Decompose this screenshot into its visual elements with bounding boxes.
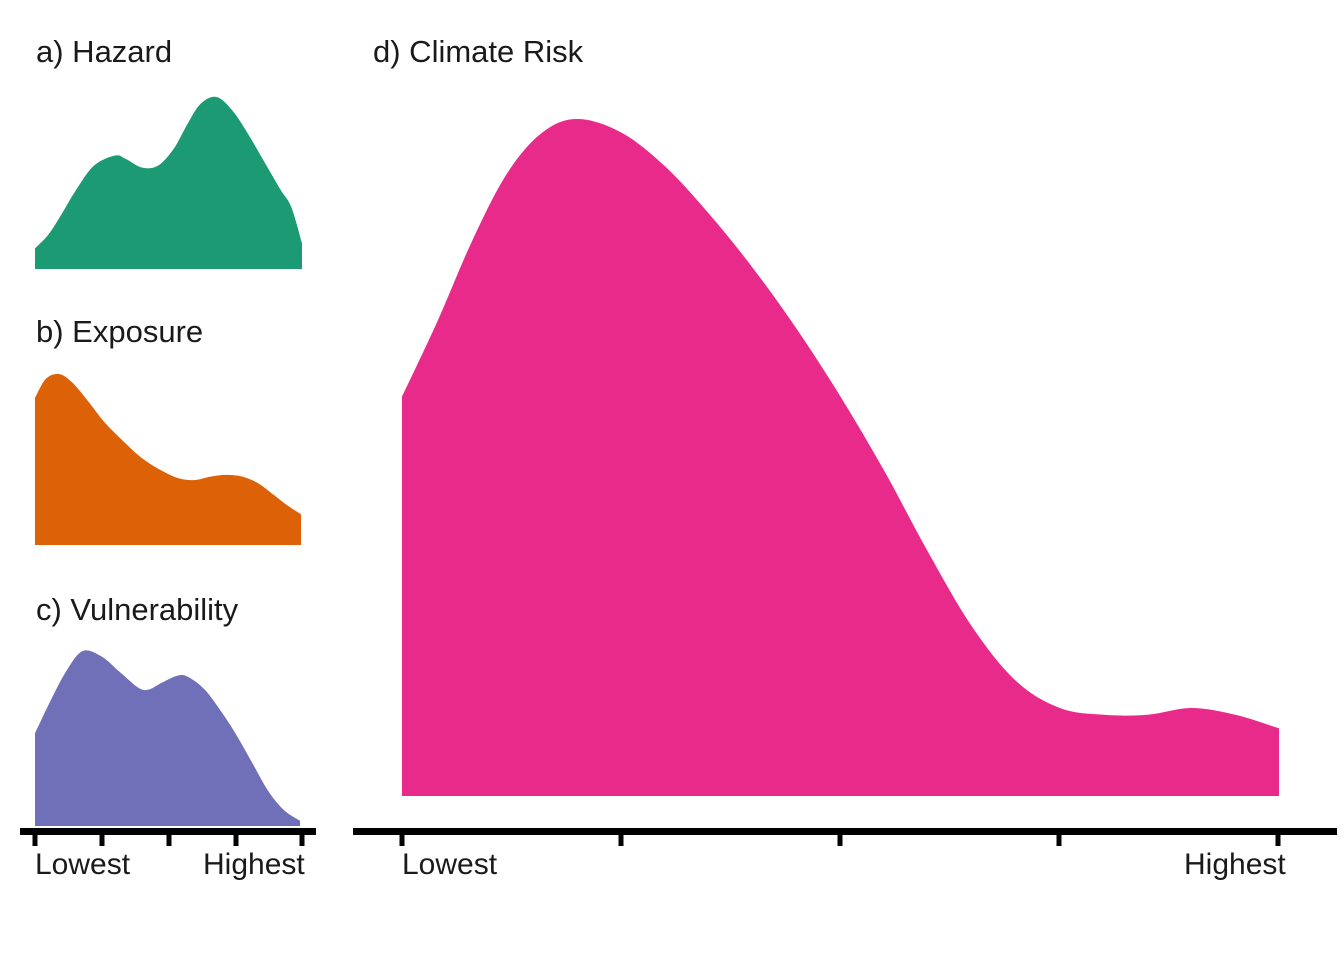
vulnerability-density-area [35, 650, 300, 826]
x-axis-left-line [20, 828, 316, 835]
x-axis-left-tick-0 [33, 835, 38, 846]
x-axis-right-tick-3 [1057, 835, 1062, 846]
x-axis-left-tick-2 [167, 835, 172, 846]
axis-tick-label-right-lowest: Lowest [402, 848, 497, 882]
x-axis-left-tick-1 [100, 835, 105, 846]
x-axis-left-tick-3 [234, 835, 239, 846]
x-axis-right-tick-4 [1276, 835, 1281, 846]
exposure-curve [35, 374, 301, 545]
x-axis-left-tick-4 [300, 835, 305, 846]
density-plots-svg [0, 0, 1344, 960]
x-axis-right-tick-0 [400, 835, 405, 846]
x-axis-right-tick-1 [619, 835, 624, 846]
axis-tick-label-left-highest: Highest [203, 848, 305, 882]
axis-tick-label-left-lowest: Lowest [35, 848, 130, 882]
vulnerability-curve [35, 650, 300, 826]
exposure-density-area [35, 374, 301, 545]
x-axis-left-panels [20, 828, 316, 846]
climate-risk-figure: a) Hazard b) Exposure c) Vulnerability d… [0, 0, 1344, 960]
x-axis-right-line [353, 828, 1337, 835]
axis-tick-label-right-highest: Highest [1184, 848, 1286, 882]
hazard-curve [35, 97, 302, 269]
climate-risk-curve [402, 119, 1279, 796]
x-axis-right-panel [353, 828, 1337, 846]
x-axis-right-tick-2 [838, 835, 843, 846]
climate-risk-density-area [402, 119, 1279, 796]
hazard-density-area [35, 97, 302, 269]
